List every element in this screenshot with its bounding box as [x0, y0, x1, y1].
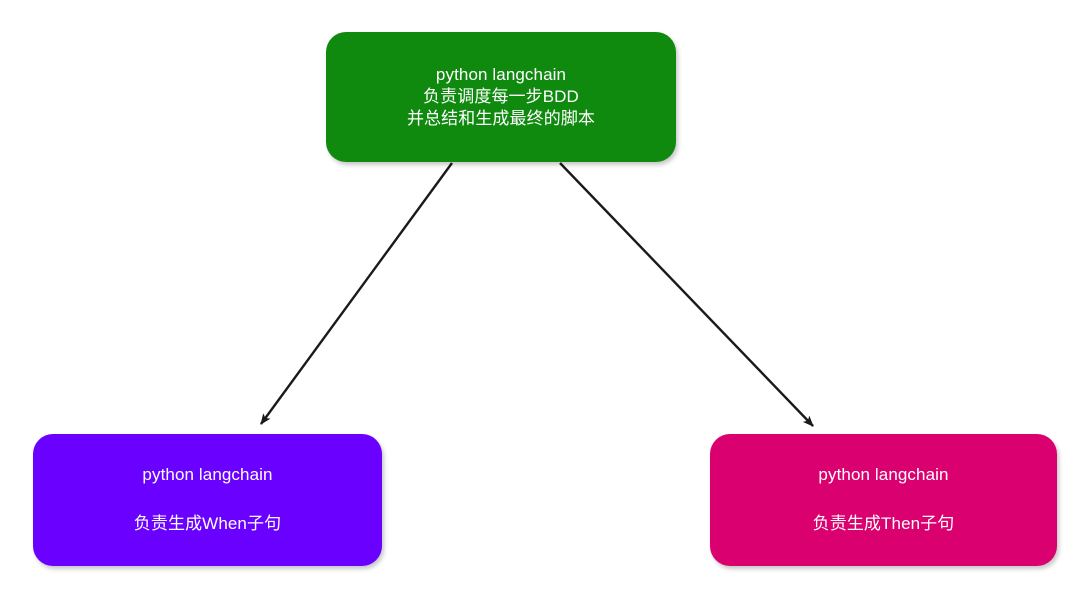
node-then-generator[interactable]: python langchain 负责生成Then子句	[710, 434, 1057, 566]
node-orchestrator[interactable]: python langchain 负责调度每一步BDD 并总结和生成最终的脚本	[326, 32, 676, 162]
node-orchestrator-line-2: 负责调度每一步BDD	[423, 86, 579, 108]
node-when-generator[interactable]: python langchain 负责生成When子句	[33, 434, 382, 566]
edge-root-to-when	[261, 163, 452, 424]
edge-root-to-then	[560, 163, 813, 426]
node-when-generator-line-2: 负责生成When子句	[134, 513, 281, 536]
node-then-generator-line-1: python langchain	[818, 464, 948, 487]
node-orchestrator-line-1: python langchain	[436, 64, 566, 86]
diagram-canvas: python langchain 负责调度每一步BDD 并总结和生成最终的脚本 …	[0, 0, 1080, 589]
node-orchestrator-line-3: 并总结和生成最终的脚本	[407, 108, 595, 130]
node-when-generator-line-1: python langchain	[142, 464, 272, 487]
node-then-generator-line-2: 负责生成Then子句	[813, 513, 955, 536]
